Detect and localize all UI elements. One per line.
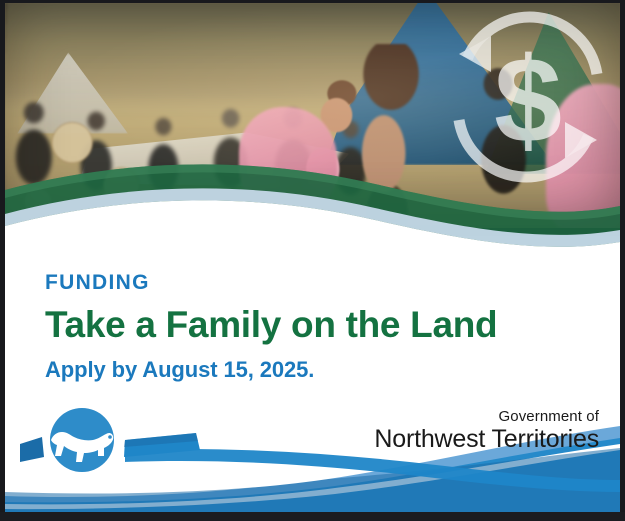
eyebrow-label: FUNDING	[45, 272, 497, 293]
wordmark-line-1: Government of	[374, 409, 599, 424]
frame-right-edge	[620, 0, 625, 521]
gnwt-logo-mark	[20, 404, 350, 476]
wordmark-line-2: Northwest Territories	[374, 427, 599, 452]
page-title: Take a Family on the Land	[45, 306, 497, 343]
funding-poster: $ FUNDING Take a Family on the Land Appl…	[0, 0, 625, 521]
gnwt-wordmark: Government of Northwest Territories	[374, 409, 599, 452]
deadline-text: Apply by August 15, 2025.	[45, 359, 497, 381]
copy-block: FUNDING Take a Family on the Land Apply …	[45, 272, 497, 381]
logo-left-bar	[20, 437, 44, 462]
green-wave-divider	[5, 150, 620, 260]
